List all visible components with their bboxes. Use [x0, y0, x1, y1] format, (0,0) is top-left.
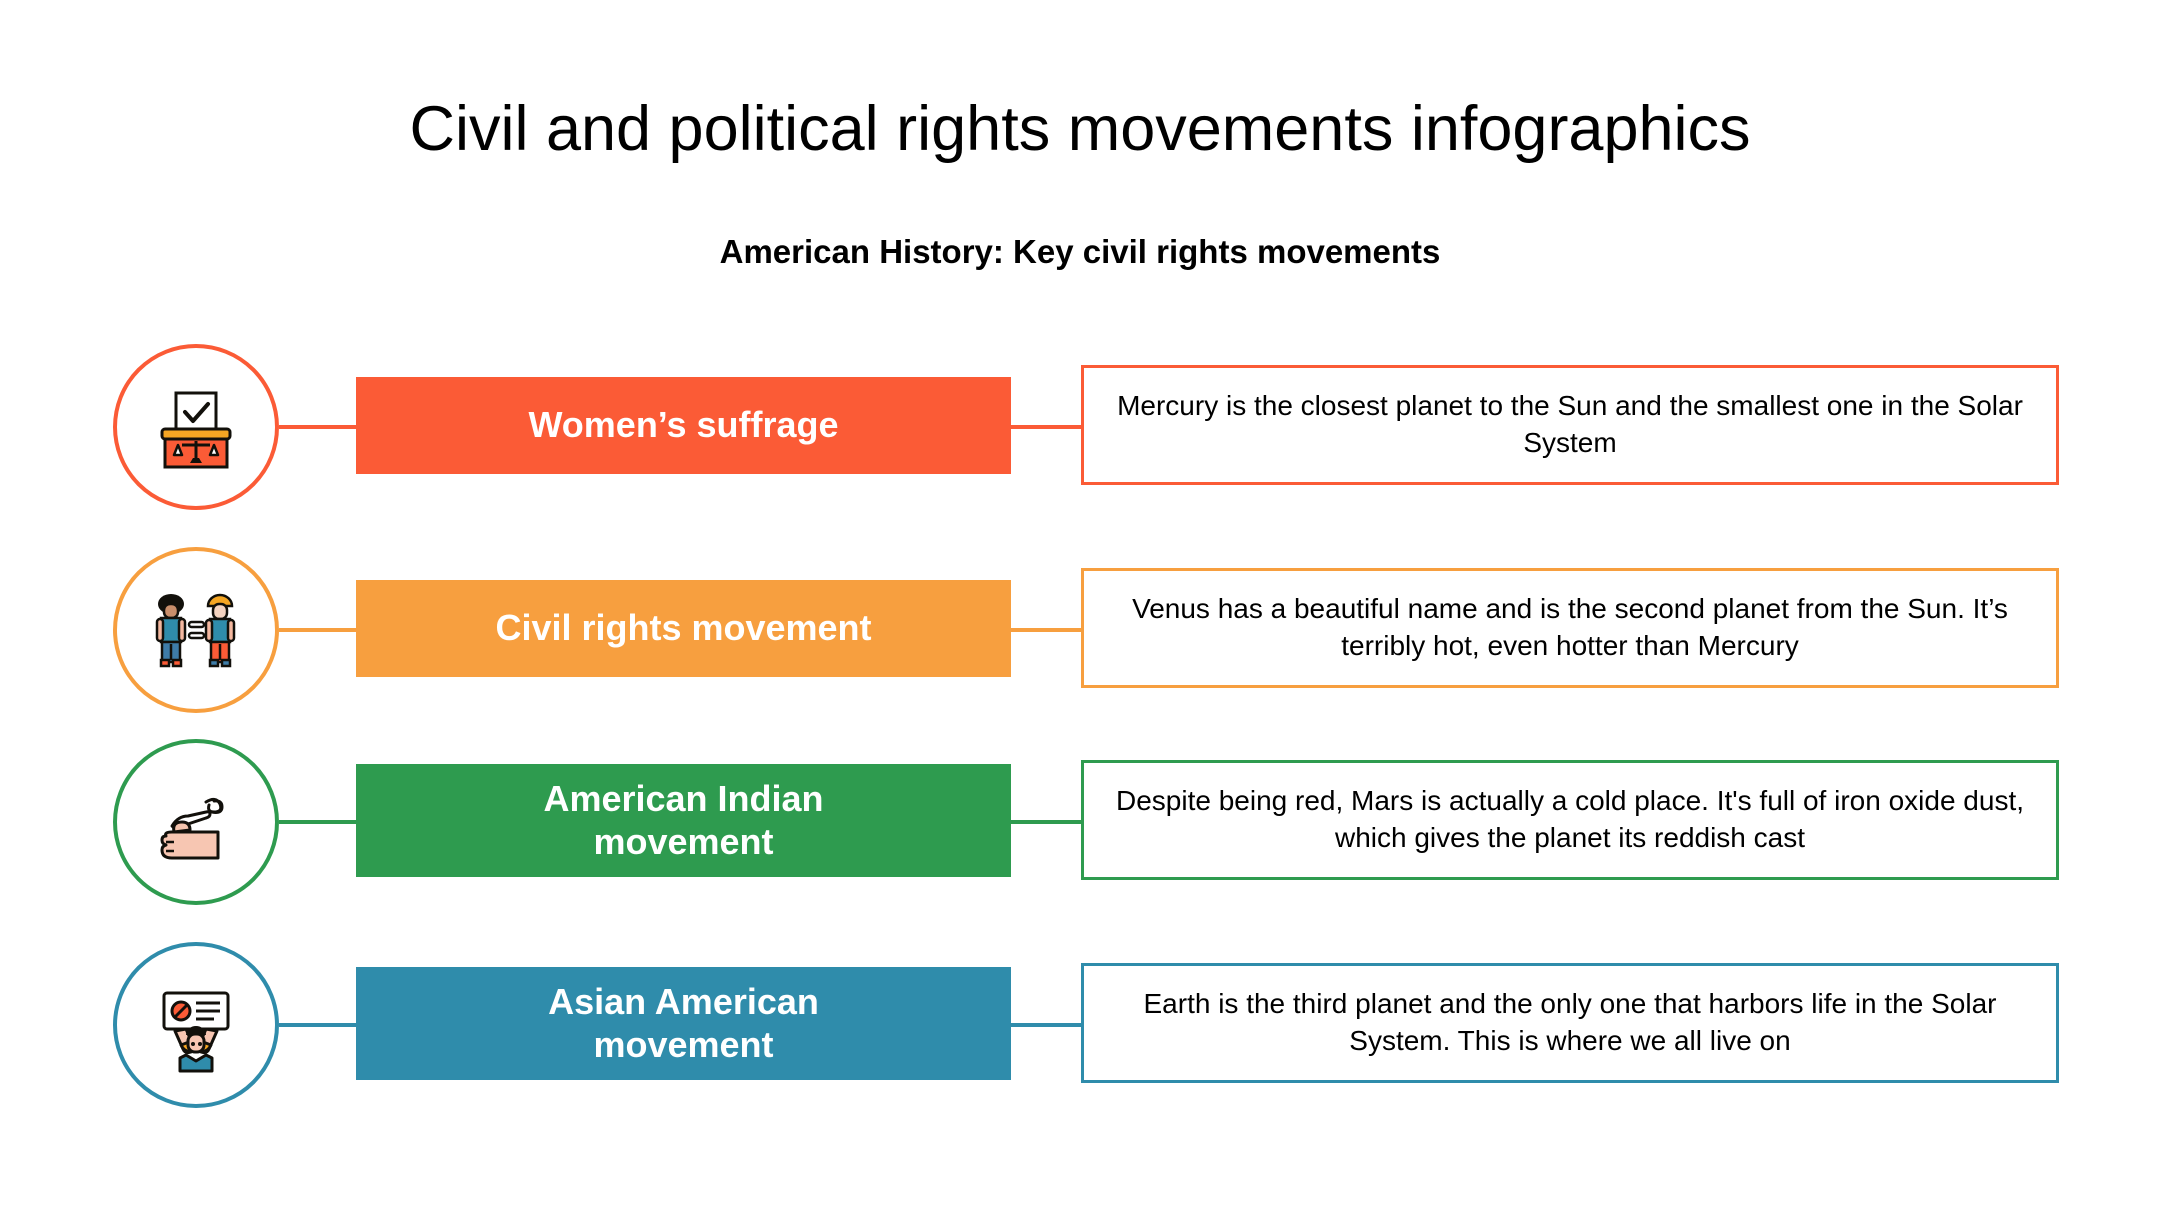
infographic-row: Asian American movement Earth is the thi…: [0, 925, 2160, 1125]
connector-bar-to-description: [1009, 1023, 1083, 1027]
description-box: Earth is the third planet and the only o…: [1081, 963, 2059, 1083]
protest-sign-icon: [148, 977, 244, 1073]
row-icon-circle[interactable]: [113, 739, 279, 905]
infographic-row: American Indian movement Despite being r…: [0, 722, 2160, 922]
description-text: Earth is the third planet and the only o…: [1100, 986, 2040, 1060]
page-subtitle: American History: Key civil rights movem…: [0, 232, 2160, 272]
peace-pipe-hand-icon: [148, 774, 244, 870]
equality-people-icon: [148, 582, 244, 678]
connector-bar-to-description: [1009, 628, 1083, 632]
infographic-slide: Civil and political rights movements inf…: [0, 0, 2160, 1215]
ballot-box-icon: [148, 379, 244, 475]
connector-circle-to-bar: [279, 628, 357, 632]
movement-label-bar[interactable]: Asian American movement: [356, 967, 1011, 1080]
description-box: Despite being red, Mars is actually a co…: [1081, 760, 2059, 880]
row-icon-circle[interactable]: [113, 942, 279, 1108]
infographic-row: Women’s suffrage Mercury is the closest …: [0, 327, 2160, 527]
page-title: Civil and political rights movements inf…: [0, 95, 2160, 164]
movement-label-bar[interactable]: Civil rights movement: [356, 580, 1011, 677]
description-text: Venus has a beautiful name and is the se…: [1100, 591, 2040, 665]
connector-circle-to-bar: [279, 425, 357, 429]
description-box: Venus has a beautiful name and is the se…: [1081, 568, 2059, 688]
description-text: Despite being red, Mars is actually a co…: [1100, 783, 2040, 857]
row-icon-circle[interactable]: [113, 344, 279, 510]
description-box: Mercury is the closest planet to the Sun…: [1081, 365, 2059, 485]
movement-label: Civil rights movement: [495, 607, 871, 649]
movement-label-bar[interactable]: Women’s suffrage: [356, 377, 1011, 474]
movement-label: American Indian movement: [543, 778, 823, 863]
row-icon-circle[interactable]: [113, 547, 279, 713]
movement-label-bar[interactable]: American Indian movement: [356, 764, 1011, 877]
infographic-row: Civil rights movement Venus has a beauti…: [0, 530, 2160, 730]
connector-circle-to-bar: [279, 820, 357, 824]
connector-bar-to-description: [1009, 820, 1083, 824]
description-text: Mercury is the closest planet to the Sun…: [1100, 388, 2040, 462]
connector-circle-to-bar: [279, 1023, 357, 1027]
movement-label: Asian American movement: [548, 981, 819, 1066]
movement-label: Women’s suffrage: [528, 404, 838, 446]
connector-bar-to-description: [1009, 425, 1083, 429]
